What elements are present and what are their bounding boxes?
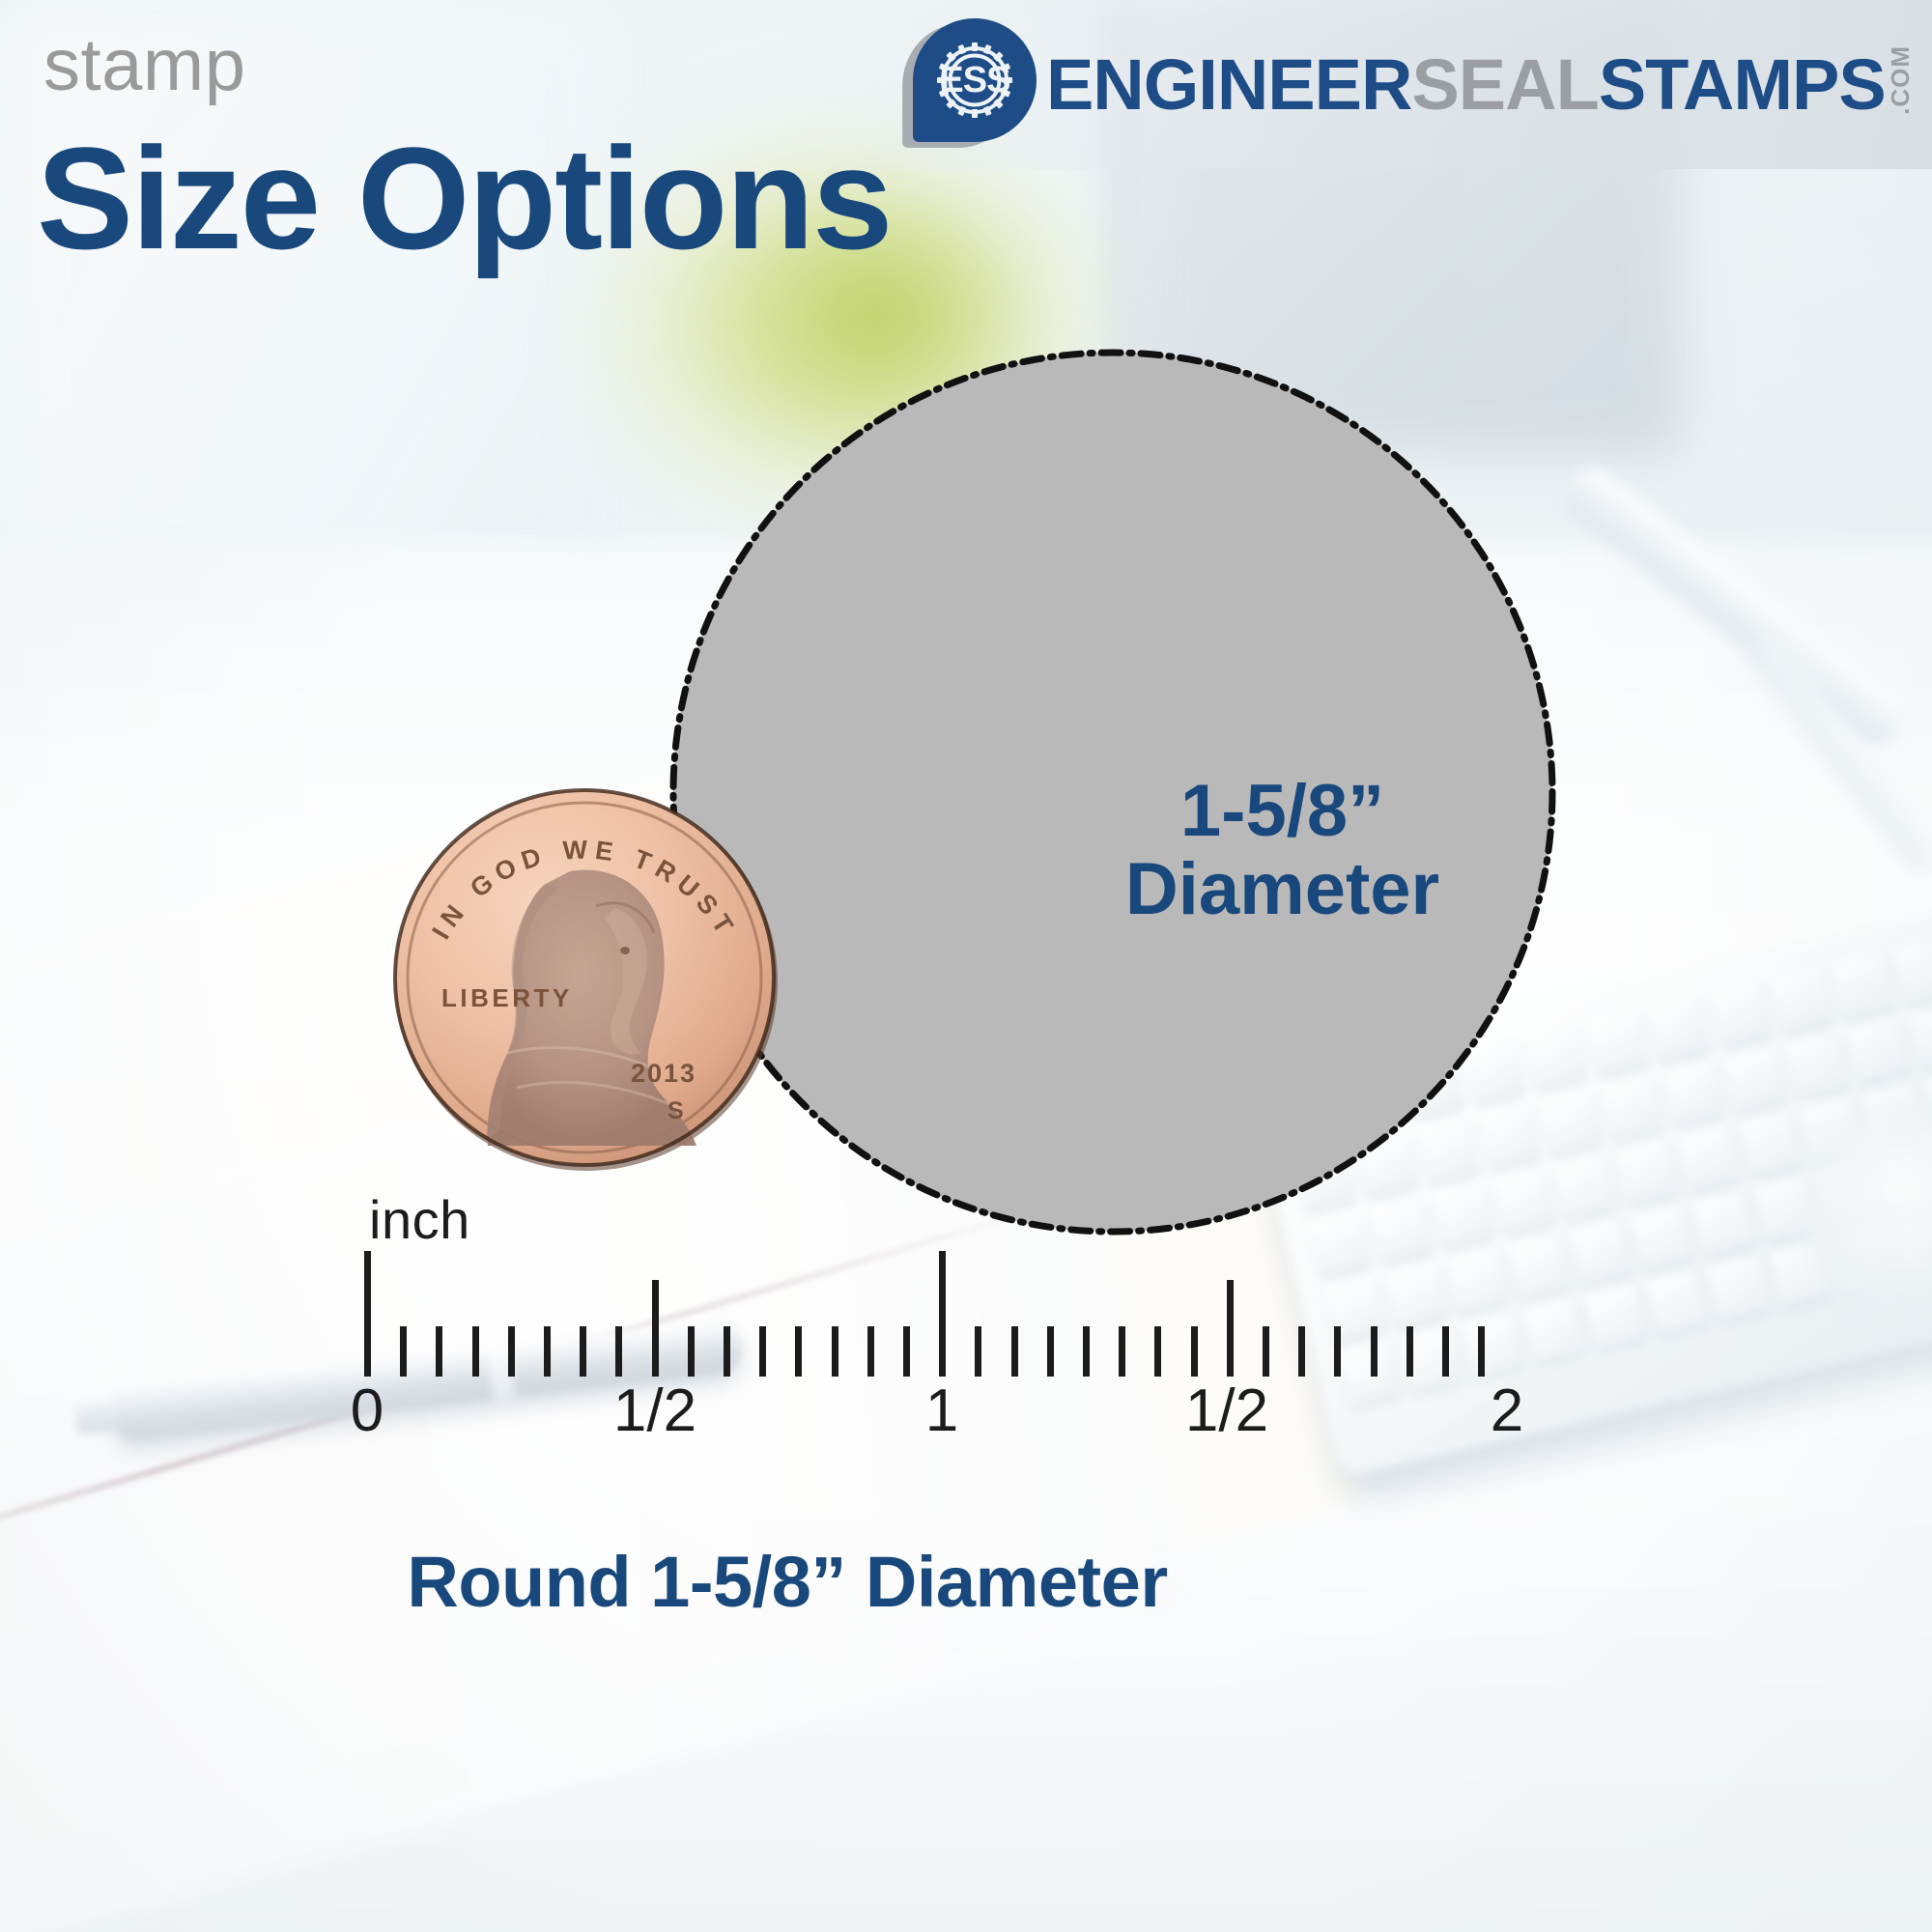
logo-word-seal: SEAL xyxy=(1411,56,1598,115)
ruler-tick xyxy=(759,1326,766,1377)
ruler-tick xyxy=(508,1326,515,1377)
ruler-tick xyxy=(1047,1326,1054,1377)
ruler-tick xyxy=(1227,1280,1234,1377)
shape-size-line-1: 1-5/8” xyxy=(1180,773,1384,851)
size-options-graphic: stamp Size Options xyxy=(0,0,1932,1932)
ruler-tick xyxy=(1083,1326,1090,1377)
ruler-tick xyxy=(652,1280,659,1377)
ruler-tick xyxy=(1334,1326,1341,1377)
logo-word-stamps: STAMPS xyxy=(1599,56,1886,115)
ruler-label: 0 xyxy=(351,1381,384,1441)
ruler-tick xyxy=(580,1326,586,1377)
ruler-tick xyxy=(615,1326,622,1377)
ruler-tick xyxy=(724,1326,730,1377)
brand-logo[interactable]: ESS ENGINEERSEALSTAMPS.COM xyxy=(913,17,1911,143)
logo-word-engineer: ENGINEER xyxy=(1046,56,1412,115)
page-title: Size Options xyxy=(37,126,891,270)
ruler-tick xyxy=(1011,1326,1018,1377)
shape-caption: Round 1-5/8” Diameter xyxy=(0,1541,1575,1623)
ruler-tick xyxy=(1298,1326,1305,1377)
ruler-unit-label: inch xyxy=(369,1188,470,1251)
ruler-tick xyxy=(1154,1326,1161,1377)
inch-ruler xyxy=(367,1251,1526,1377)
ruler-tick xyxy=(832,1326,838,1377)
logo-tld: .COM xyxy=(1890,45,1911,115)
ess-shield-icon: ESS xyxy=(913,18,1037,142)
stamp-shape-preview: 1-5/8” Diameter xyxy=(667,346,1560,1239)
ruler-tick xyxy=(1442,1326,1449,1377)
ruler-tick xyxy=(400,1326,407,1377)
ruler-tick xyxy=(544,1326,551,1377)
ruler-tick xyxy=(975,1326,981,1377)
svg-text:S: S xyxy=(668,1097,684,1124)
logo-ess-text: ESS xyxy=(913,18,1037,142)
shape-size-label: 1-5/8” Diameter xyxy=(836,404,1729,1297)
ruler-label: 1/2 xyxy=(613,1381,696,1441)
penny-scale-reference: IN GOD WE TRUST LIBERTY 2013 S xyxy=(372,763,797,1188)
ruler-tick xyxy=(903,1326,910,1377)
ruler-tick xyxy=(1263,1326,1269,1377)
ruler-tick xyxy=(1371,1326,1378,1377)
svg-text:LIBERTY: LIBERTY xyxy=(441,983,573,1012)
svg-text:2013: 2013 xyxy=(631,1059,696,1088)
ruler-tick xyxy=(1119,1326,1125,1377)
ruler-tick xyxy=(1191,1326,1198,1377)
ruler-tick xyxy=(795,1326,802,1377)
ruler-tick xyxy=(436,1326,442,1377)
ruler-tick xyxy=(939,1251,946,1377)
ruler-tick xyxy=(1478,1326,1485,1377)
ruler-tick xyxy=(472,1326,479,1377)
logo-wordmark: ENGINEERSEALSTAMPS.COM xyxy=(1046,45,1911,115)
ruler-tick xyxy=(364,1251,371,1377)
ruler-tick xyxy=(867,1326,874,1377)
ruler-label: 1/2 xyxy=(1185,1381,1268,1441)
eyebrow-label: stamp xyxy=(43,29,245,102)
ruler-tick xyxy=(688,1326,695,1377)
ruler-label: 1 xyxy=(925,1381,958,1441)
shape-size-line-2: Diameter xyxy=(1125,851,1439,929)
ruler-tick xyxy=(1406,1326,1413,1377)
ruler-label: 2 xyxy=(1491,1381,1523,1441)
